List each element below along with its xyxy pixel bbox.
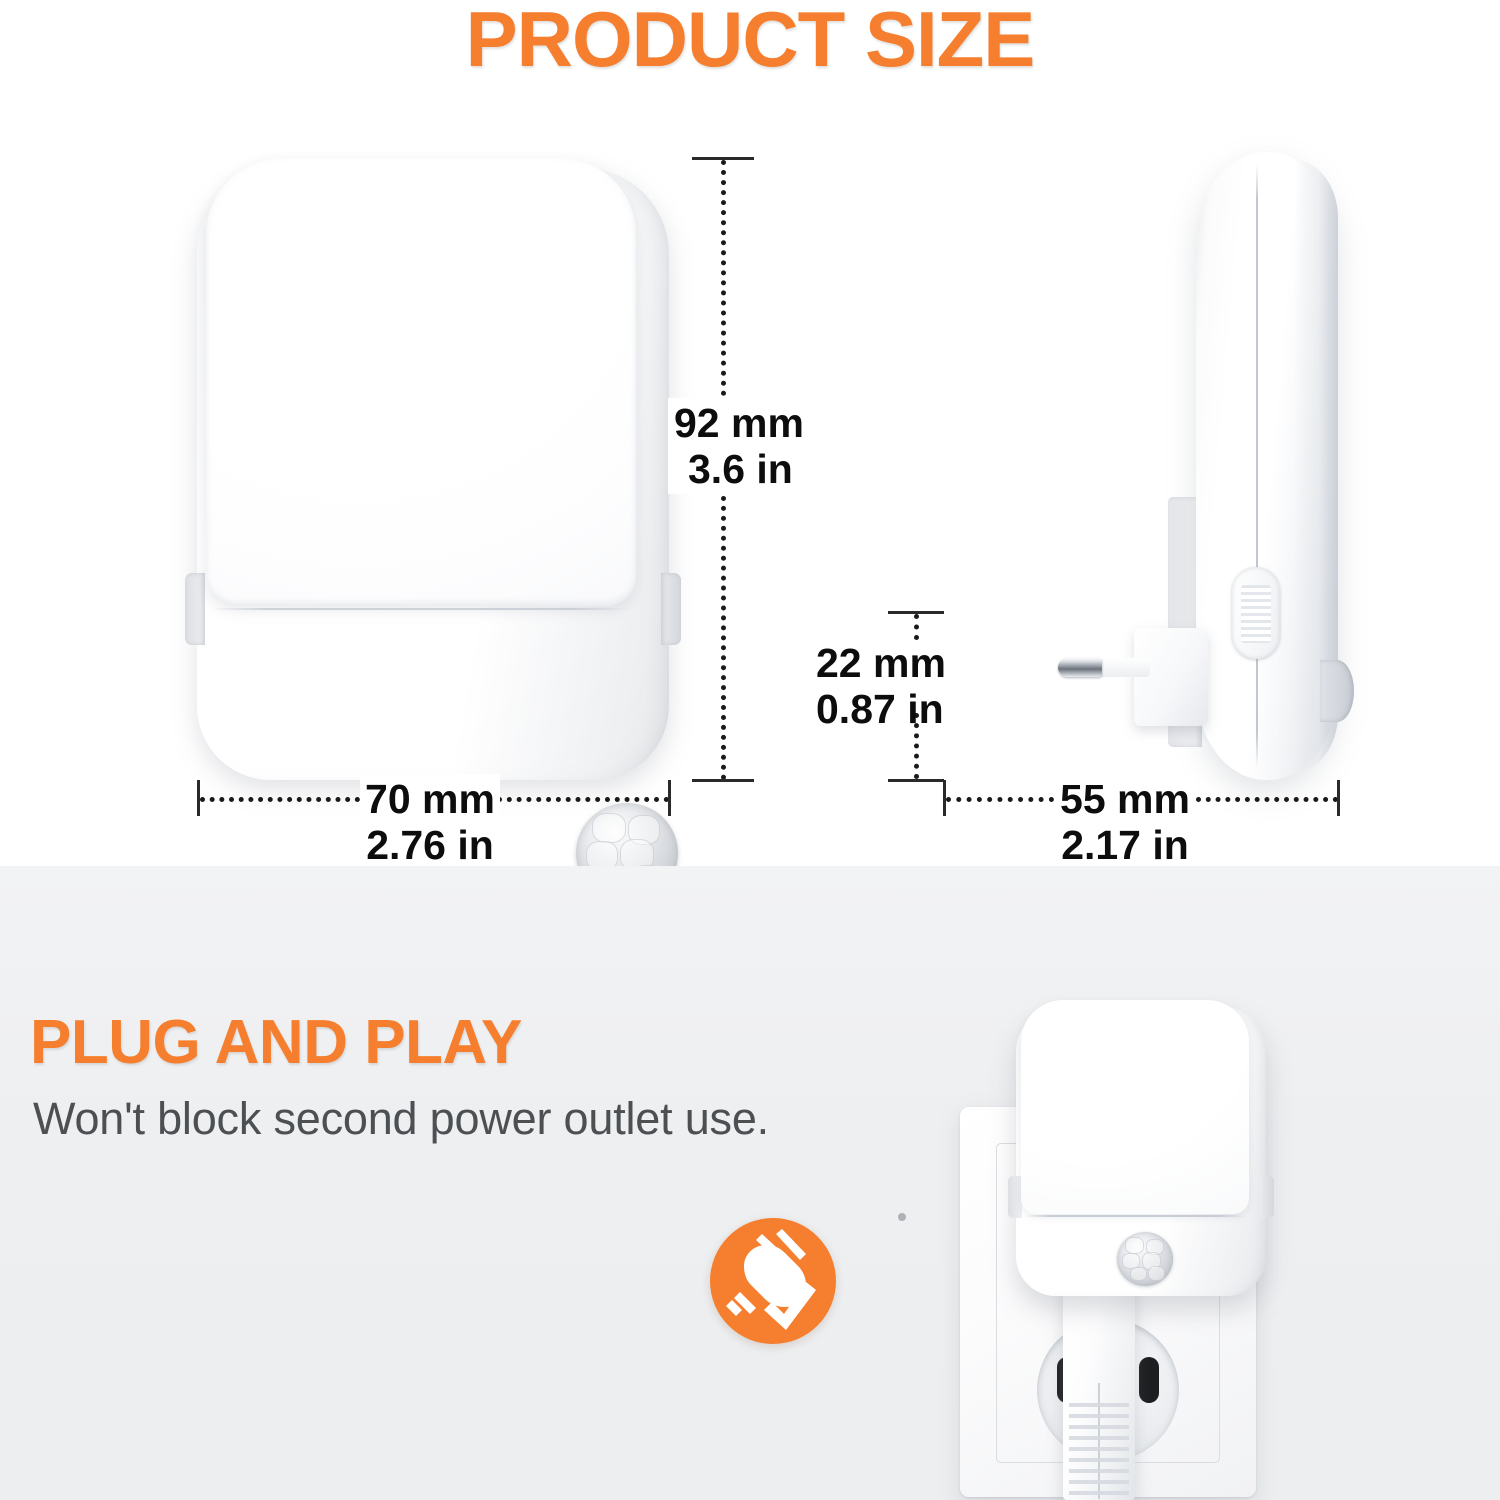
height-dimension-line-upper — [721, 160, 726, 396]
depth-dimension-label: 22 mm 0.87 in — [812, 638, 950, 734]
side-width-dimension-line-left — [946, 797, 1054, 802]
side-width-dimension-cap-right — [1337, 780, 1340, 816]
prong-metal-tip — [1058, 658, 1102, 677]
mounted-side-clip-left-icon — [1008, 1176, 1022, 1218]
night-light-side-view — [1196, 152, 1338, 780]
side-width-dimension-in: 2.17 in — [1058, 822, 1192, 866]
slider-switch-icon[interactable] — [1232, 567, 1280, 659]
mounted-pir-motion-sensor-icon — [1117, 1232, 1173, 1286]
side-width-dimension-mm: 55 mm — [1060, 776, 1190, 822]
height-dimension-mm: 92 mm — [674, 400, 804, 446]
eu-plug-prongs — [1058, 618, 1208, 736]
wall-dot — [898, 1213, 906, 1221]
width-dimension-in: 2.76 in — [364, 822, 496, 866]
depth-dimension-line-upper — [914, 614, 919, 640]
socket-hole-right — [1139, 1357, 1159, 1403]
night-light-mounted-in-outlet — [1016, 1000, 1266, 1296]
slider-switch-grip — [1241, 585, 1271, 643]
pir-motion-sensor-side-icon — [1320, 660, 1354, 722]
product-size-panel: PRODUCT SIZE 92 mm 3.6 in — [0, 0, 1500, 866]
plug-and-play-subtitle: Won't block second power outlet use. — [33, 1092, 769, 1146]
wall-outlet-scene — [950, 1000, 1350, 1500]
night-light-front-view — [197, 158, 669, 780]
width-dimension-label: 70 mm 2.76 in — [360, 774, 500, 866]
light-diffuser-panel — [206, 158, 636, 606]
product-infographic: PRODUCT SIZE 92 mm 3.6 in — [0, 0, 1500, 1500]
depth-dimension-mm: 22 mm — [816, 640, 946, 686]
plug-prong-icon — [1058, 658, 1150, 677]
height-dimension-line-lower — [721, 486, 726, 780]
plug-base-block — [1134, 628, 1208, 726]
plug-and-play-title: PLUG AND PLAY — [30, 1008, 522, 1078]
height-dimension-label: 92 mm 3.6 in — [668, 398, 810, 494]
pir-motion-sensor-icon — [576, 803, 678, 866]
housing-seam-line — [211, 608, 631, 610]
side-width-dimension-label: 55 mm 2.17 in — [1054, 774, 1196, 866]
depth-dimension-in: 0.87 in — [816, 686, 946, 732]
width-dimension-line-left — [200, 797, 360, 802]
side-clip-left-icon — [185, 573, 205, 645]
plug-grip-ridges — [1069, 1403, 1129, 1498]
height-dimension-in: 3.6 in — [688, 446, 804, 492]
side-width-dimension-line-right — [1196, 797, 1338, 802]
side-housing-seam-line — [1256, 164, 1258, 768]
mounted-housing-seam-line — [1024, 1215, 1246, 1217]
side-clip-right-icon — [661, 573, 681, 645]
depth-dimension-cap-bottom — [888, 779, 944, 782]
height-dimension-cap-bottom — [692, 779, 754, 782]
width-dimension-cap-right — [668, 780, 671, 816]
width-dimension-mm: 70 mm — [365, 776, 495, 822]
width-dimension-line-right — [497, 797, 669, 802]
plug-with-check-icon — [710, 1218, 836, 1344]
product-size-title: PRODUCT SIZE — [0, 0, 1500, 82]
mounted-light-diffuser-panel — [1021, 1000, 1249, 1214]
mounted-side-clip-right-icon — [1260, 1176, 1274, 1218]
